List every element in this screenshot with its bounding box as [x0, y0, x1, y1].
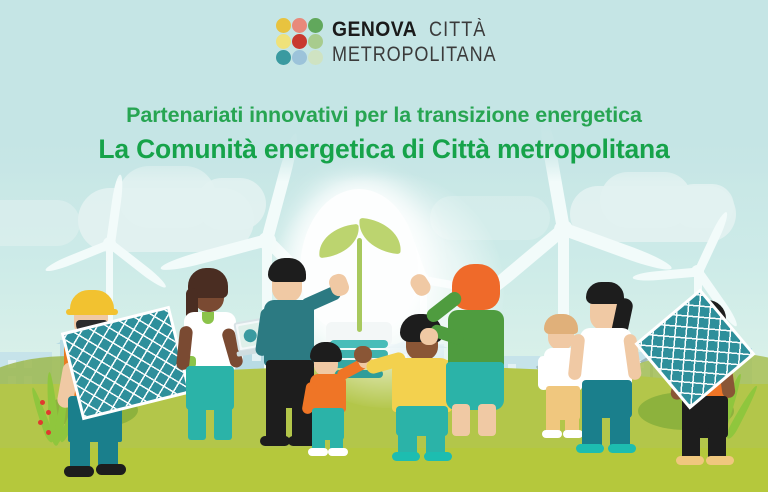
logo-dot [308, 18, 323, 33]
title-block: Partenariati innovativi per la transizio… [0, 104, 768, 164]
logo-dot [276, 34, 291, 49]
woman-with-red-hair [418, 252, 528, 438]
logo-dot [276, 50, 291, 65]
genova-citta-metropolitana-logo[interactable]: GENOVA CITTÀ METROPOLITANA [276, 18, 523, 65]
logo-dot [308, 50, 323, 65]
logo-dot [308, 34, 323, 49]
logo-word-genova: GENOVA [332, 19, 417, 40]
poster-subtitle: Partenariati innovativi per la transizio… [0, 104, 768, 128]
logo-dot [292, 50, 307, 65]
cloud-icon [196, 178, 266, 230]
cloud-icon [0, 200, 80, 246]
logo-dot [276, 18, 291, 33]
logo-dots-grid [276, 18, 323, 65]
logo-dot [292, 18, 307, 33]
logo-dot [292, 34, 307, 49]
logo-word-citta: CITTÀ [429, 19, 486, 40]
logo-wordmark: GENOVA CITTÀ METROPOLITANA [332, 19, 523, 65]
logo-word-metropolitana: METROPOLITANA [332, 44, 496, 65]
poster: GENOVA CITTÀ METROPOLITANA Partenariati … [0, 0, 768, 492]
poster-title: La Comunità energetica di Città metropol… [0, 134, 768, 164]
